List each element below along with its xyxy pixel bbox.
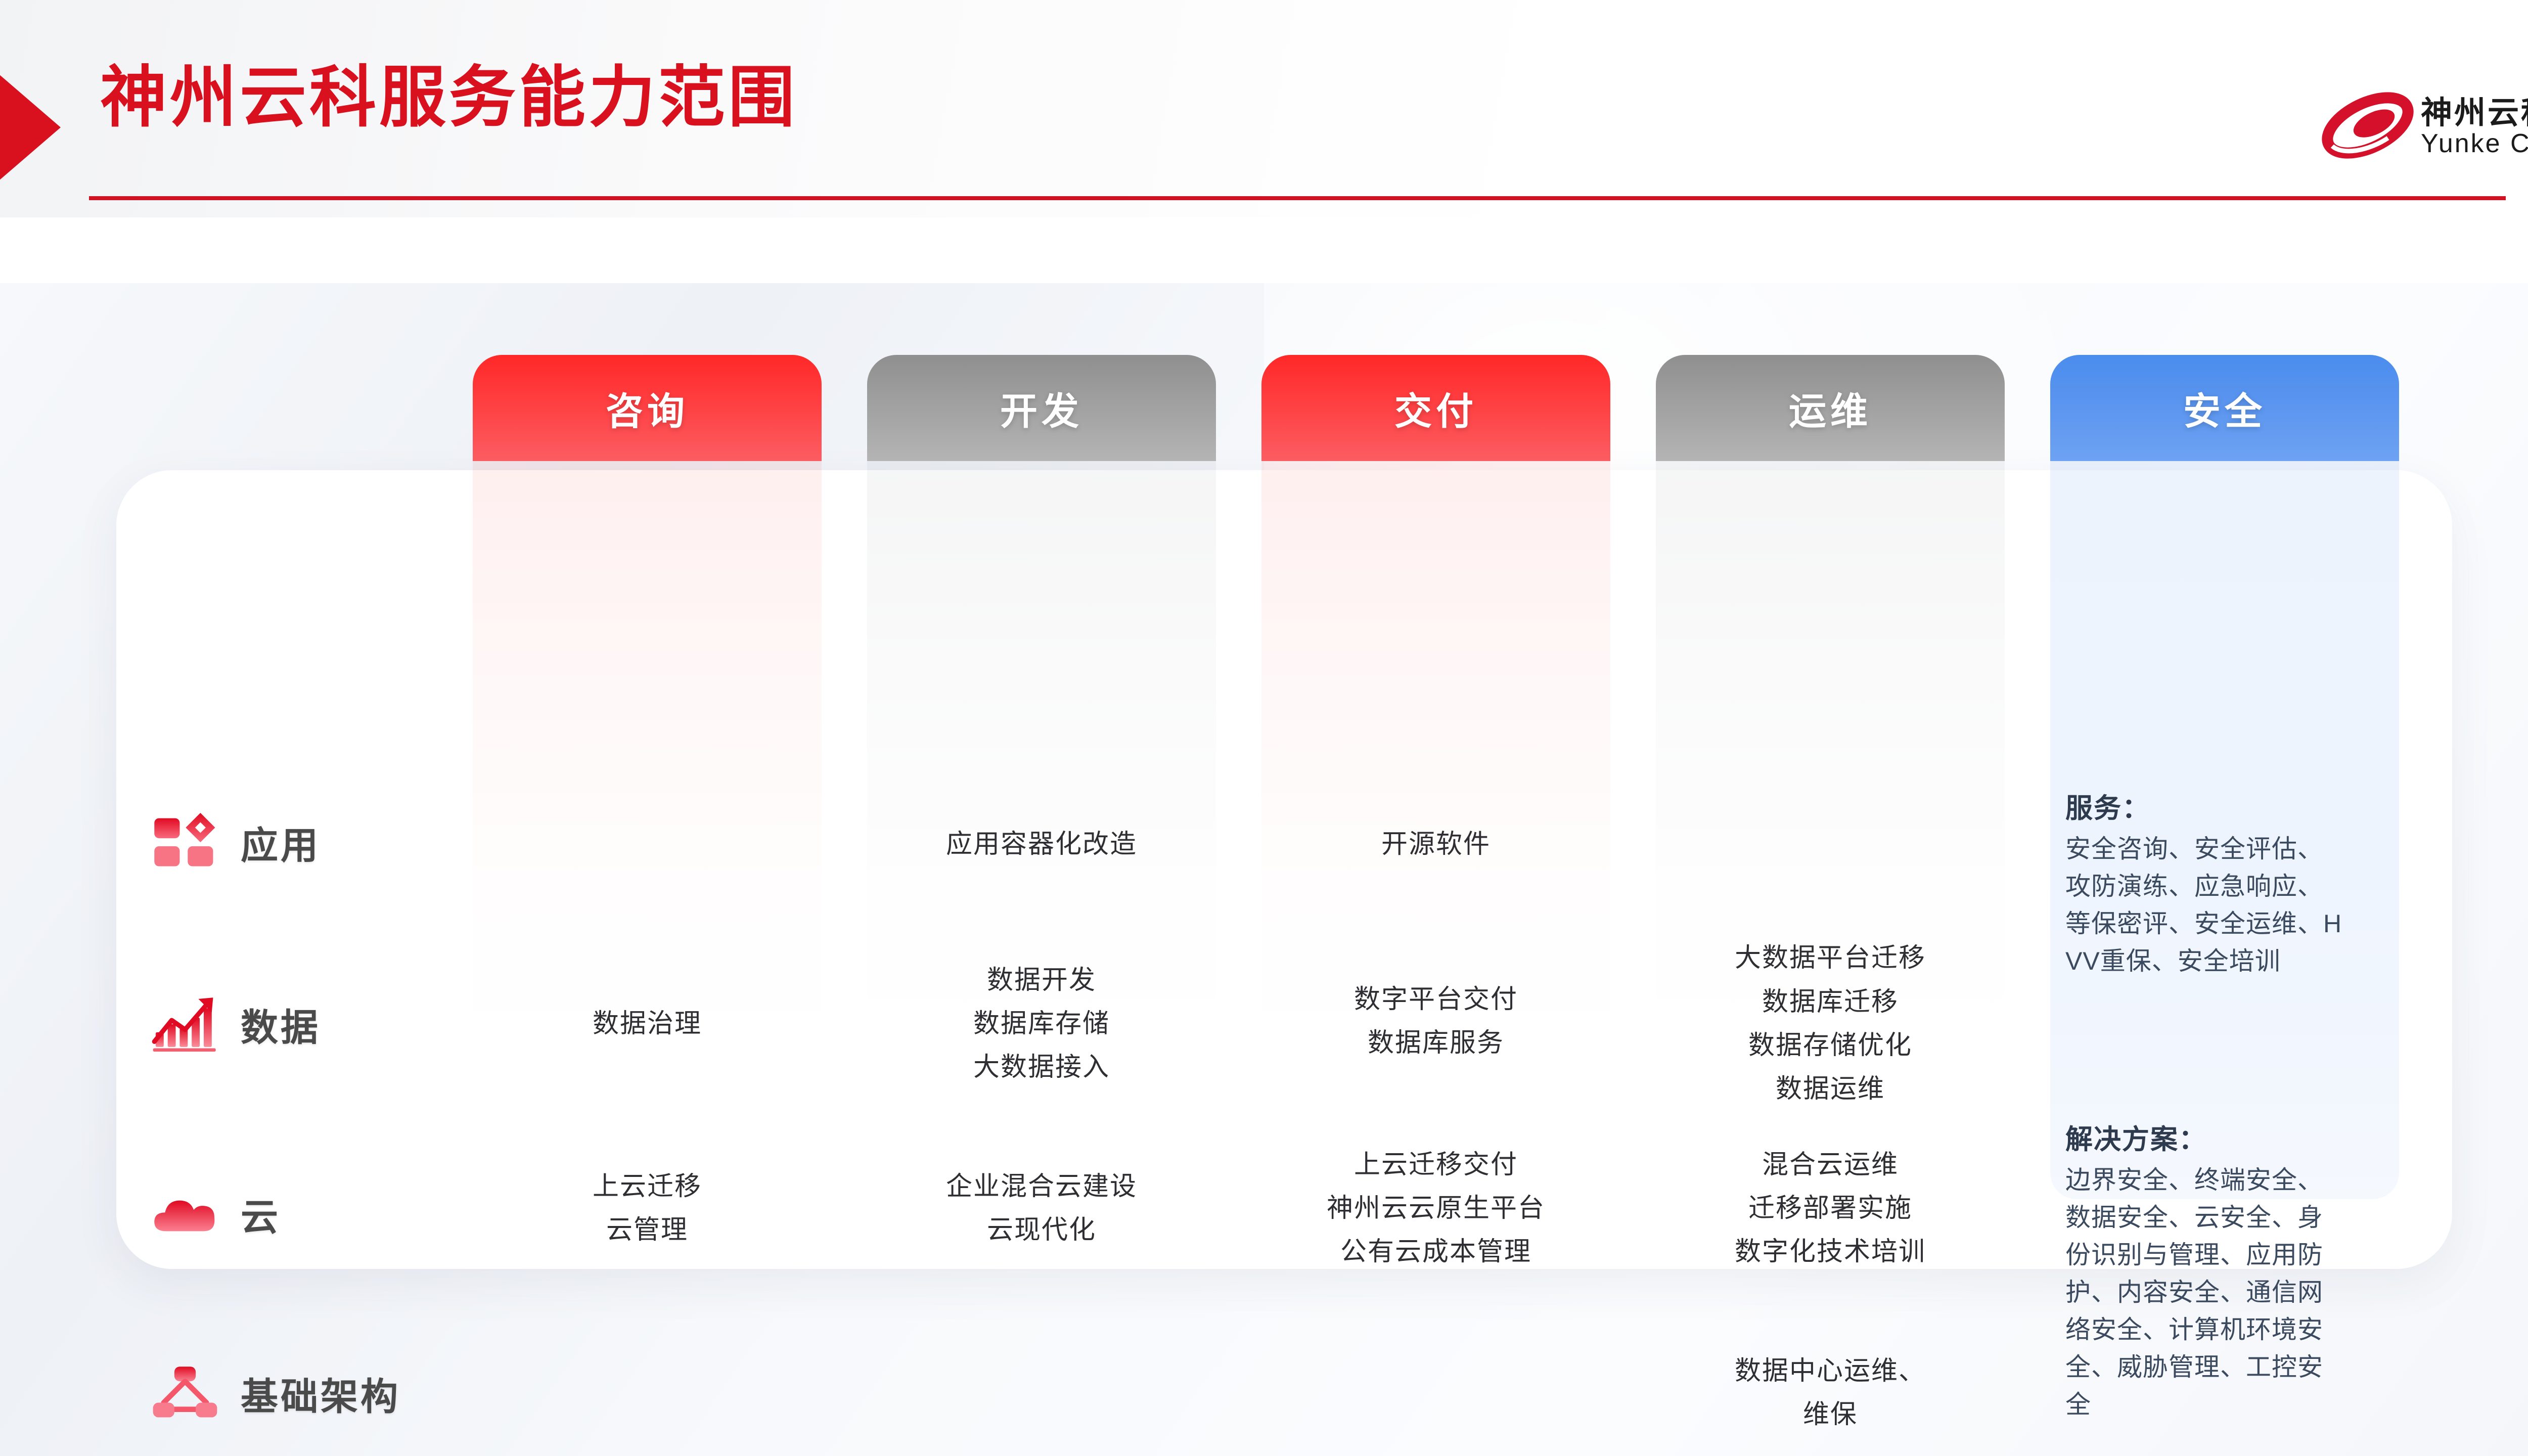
cell-infra-consulting (473, 1335, 822, 1451)
app-blocks-icon (152, 809, 218, 876)
cell-infra-delivery (1261, 1335, 1610, 1451)
bar-chart-arrow-icon (152, 991, 218, 1058)
page-header: 神州云科服务能力范围 神州云科 Yunke China (0, 0, 2528, 217)
cell-line: 维保 (1803, 1393, 1858, 1436)
security-solution-title: 解决方案： (2065, 1120, 2349, 1159)
cell-line: 上云迁移 (593, 1165, 702, 1208)
column-header-security[interactable]: 安全 (2050, 355, 2399, 461)
cell-cloud-development: 企业混合云建设 云现代化 (867, 1143, 1216, 1274)
cell-line: 云管理 (606, 1208, 688, 1252)
cell-infra-development (867, 1335, 1216, 1451)
cell-line: 大数据平台迁移 (1735, 936, 1926, 980)
cell-line: 迁移部署实施 (1748, 1187, 1912, 1230)
brand-name-cn: 神州云科 (2421, 87, 2528, 132)
cell-line: 混合云运维 (1762, 1143, 1899, 1187)
row-label-text: 基础架构 (241, 1367, 400, 1421)
cell-data-development: 数据开发 数据库存储 大数据接入 (867, 940, 1216, 1107)
row-label-text: 数据 (241, 997, 321, 1052)
column-header-delivery[interactable]: 交付 (1261, 355, 1610, 461)
row-label-text: 应用 (241, 815, 321, 870)
security-service-block: 服务： 安全咨询、安全评估、 攻防演练、应急响应、等保密评、安全运维、HVV重保… (2065, 789, 2349, 980)
cell-line: 数字平台交付 (1354, 978, 1518, 1021)
security-service-title: 服务： (2065, 789, 2349, 828)
column-header-label: 咨询 (606, 381, 689, 435)
cell-app-delivery: 开源软件 (1261, 789, 1610, 900)
brand-logo: 神州云科 Yunke China (2320, 76, 2528, 172)
cell-data-consulting: 数据治理 (473, 966, 822, 1082)
cell-cloud-delivery: 上云迁移交付 神州云云原生平台 公有云成本管理 (1261, 1122, 1610, 1294)
cell-line: 公有云成本管理 (1340, 1230, 1531, 1273)
cell-line: 数据运维 (1776, 1067, 1885, 1111)
cell-line: 企业混合云建设 (946, 1165, 1137, 1208)
cell-line: 云现代化 (987, 1208, 1096, 1252)
cell-app-operations (1656, 789, 2005, 900)
column-band-consulting (473, 461, 822, 1037)
security-service-body: 安全咨询、安全评估、 攻防演练、应急响应、等保密评、安全运维、HVV重保、安全培… (2065, 830, 2349, 980)
cell-line: 数据库存储 (973, 1002, 1110, 1045)
cell-line: 数据治理 (593, 1002, 702, 1045)
row-label-data: 数据 (152, 991, 321, 1058)
cell-infra-operations: 数据中心运维、 维保 (1656, 1335, 2005, 1451)
cell-line: 神州云云原生平台 (1327, 1187, 1545, 1230)
cloud-icon (152, 1180, 218, 1247)
cell-app-development: 应用容器化改造 (867, 789, 1216, 900)
page-title: 神州云科服务能力范围 (100, 61, 798, 134)
swirl-logo-icon (2320, 85, 2416, 166)
security-solution-block: 解决方案： 边界安全、终端安全、数据安全、云安全、身份识别与管理、应用防护、内容… (2065, 1120, 2349, 1423)
column-header-consulting[interactable]: 咨询 (473, 355, 822, 461)
row-label-cloud: 云 (152, 1180, 281, 1247)
brand-name-en: Yunke China (2421, 128, 2528, 159)
column-header-label: 运维 (1789, 381, 1872, 435)
cell-data-operations: 大数据平台迁移 数据库迁移 数据存储优化 数据运维 (1656, 925, 2005, 1122)
column-header-label: 交付 (1394, 381, 1477, 435)
row-label-app: 应用 (152, 809, 321, 876)
column-header-label: 安全 (2183, 381, 2266, 435)
row-label-text: 云 (241, 1187, 281, 1241)
cell-line: 数据库迁移 (1762, 980, 1899, 1024)
cell-line: 数据库服务 (1368, 1021, 1504, 1065)
title-divider (89, 196, 2506, 200)
cell-cloud-operations: 混合云运维 迁移部署实施 数字化技术培训 (1656, 1122, 2005, 1294)
column-band-delivery (1261, 461, 1610, 1037)
cell-line: 开源软件 (1381, 823, 1491, 866)
column-header-development[interactable]: 开发 (867, 355, 1216, 461)
cell-line: 数字化技术培训 (1735, 1230, 1926, 1273)
column-header-label: 开发 (1000, 381, 1083, 435)
cell-line: 大数据接入 (973, 1045, 1110, 1089)
cell-line: 数据中心运维、 (1735, 1349, 1926, 1393)
cell-line: 应用容器化改造 (946, 823, 1137, 866)
cell-app-consulting (473, 789, 822, 900)
column-header-operations[interactable]: 运维 (1656, 355, 2005, 461)
red-arrow-icon (0, 71, 61, 184)
cell-data-delivery: 数字平台交付 数据库服务 (1261, 955, 1610, 1087)
cell-line: 上云迁移交付 (1354, 1143, 1518, 1187)
content-stage: 咨询 开发 交付 运维 安全 应用 数据 (0, 283, 2528, 1456)
cell-cloud-consulting: 上云迁移 云管理 (473, 1143, 822, 1274)
cell-line: 数据存储优化 (1748, 1024, 1912, 1067)
row-label-infra: 基础架构 (152, 1360, 400, 1427)
network-nodes-icon (152, 1360, 218, 1427)
cell-line: 数据开发 (987, 959, 1096, 1002)
security-solution-body: 边界安全、终端安全、数据安全、云安全、身份识别与管理、应用防护、内容安全、通信网… (2065, 1161, 2349, 1423)
